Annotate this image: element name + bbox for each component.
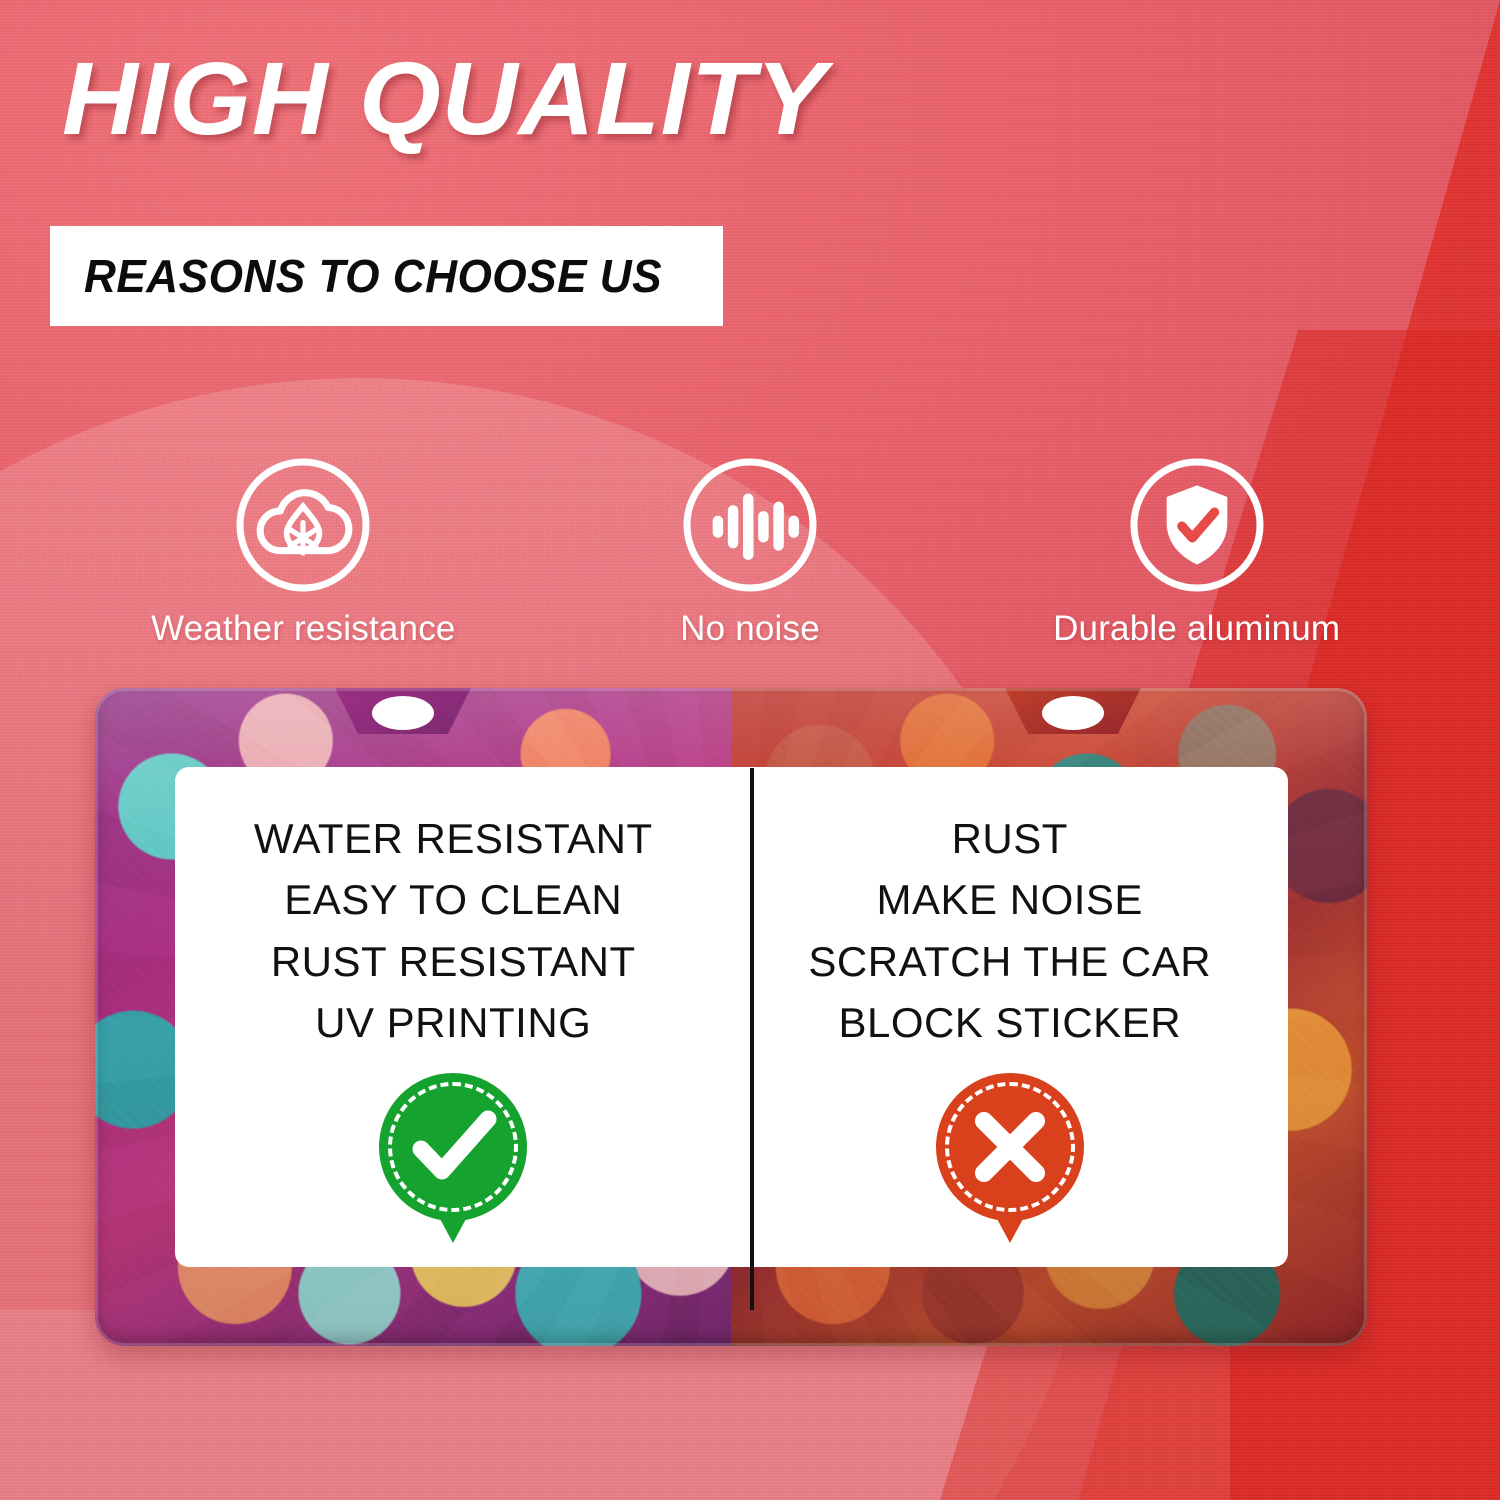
cons-column: RUST MAKE NOISE SCRATCH THE CAR BLOCK ST… [732,808,1289,1268]
feature-item-weather-resistance: Weather resistance [80,455,527,649]
cons-line: RUST [952,808,1068,869]
shield-check-icon [1127,455,1267,595]
pros-line: RUST RESISTANT [271,931,636,992]
feature-item-no-noise: No noise [527,455,974,649]
screw-notch-right [1005,688,1141,734]
pros-line: WATER RESISTANT [254,808,653,869]
cross-badge [936,1073,1084,1241]
screw-hole [1042,696,1104,730]
cloud-weather-icon [233,455,373,595]
cons-line: MAKE NOISE [877,869,1143,930]
pros-line: UV PRINTING [315,992,591,1053]
comparison-columns: WATER RESISTANT EASY TO CLEAN RUST RESIS… [175,808,1288,1268]
feature-label: No noise [680,609,820,649]
feature-label: Durable aluminum [1053,609,1340,649]
cons-line: SCRATCH THE CAR [808,931,1211,992]
check-badge [379,1073,527,1241]
cons-line: BLOCK STICKER [838,992,1181,1053]
cross-icon [936,1073,1084,1221]
screw-notch-left [335,688,471,734]
license-plate-frame: WATER RESISTANT EASY TO CLEAN RUST RESIS… [95,688,1367,1346]
subtitle-bar: REASONS TO CHOOSE US [50,226,723,326]
subtitle-text: REASONS TO CHOOSE US [84,249,662,303]
pros-line: EASY TO CLEAN [284,869,622,930]
check-icon [379,1073,527,1221]
feature-label: Weather resistance [151,609,455,649]
page-title: HIGH QUALITY [62,44,827,153]
feature-item-durable-aluminum: Durable aluminum [973,455,1420,649]
infographic-canvas: HIGH QUALITY REASONS TO CHOOSE US Weathe… [0,0,1500,1500]
screw-hole [372,696,434,730]
sound-wave-icon [680,455,820,595]
pros-column: WATER RESISTANT EASY TO CLEAN RUST RESIS… [175,808,732,1268]
feature-list: Weather resistance No noise [80,455,1420,670]
